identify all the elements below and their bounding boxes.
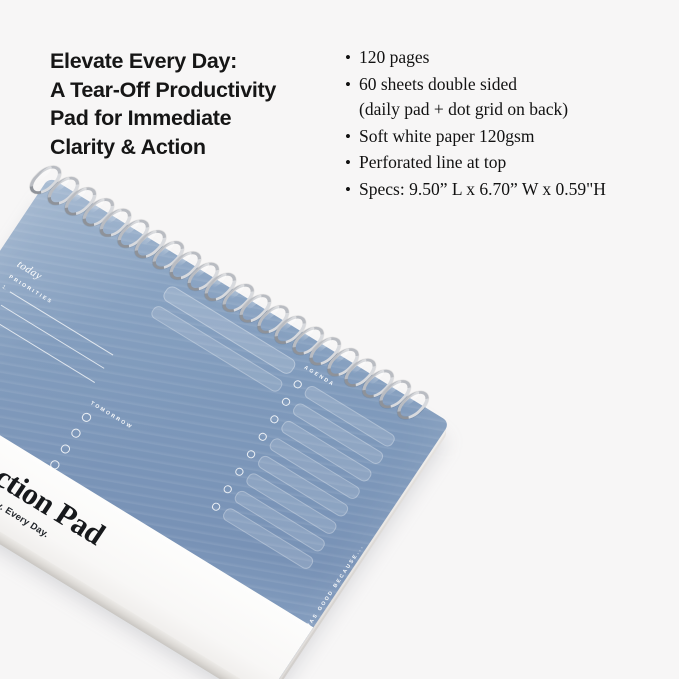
checkbox-icon [80,411,92,423]
spec-list: • 120 pages • 60 sheets double sided (da… [345,45,645,203]
checkbox-icon [70,427,82,439]
spec-text: Perforated line at top [359,150,645,176]
bullet-icon: • [345,150,359,176]
time-dot-icon [222,484,233,494]
bullet-icon: • [345,124,359,150]
page-title: Elevate Every Day: A Tear-Off Productivi… [50,47,340,161]
priority-number: 1. [1,284,8,291]
list-item: • 60 sheets double sided (daily pad + do… [345,72,645,123]
write-line [94,421,95,422]
checkbox-icon [59,443,71,455]
time-dot-icon [211,502,222,512]
time-dot-icon [269,414,280,424]
product-marketing-image: Elevate Every Day: A Tear-Off Productivi… [0,0,679,679]
write-line [83,437,84,438]
bullet-icon: • [345,72,359,98]
write-line [62,469,63,470]
list-item: • Perforated line at top [345,150,645,176]
time-dot-icon [257,432,268,442]
write-line [73,453,74,454]
spec-text: 60 sheets double sided (daily pad + dot … [359,72,645,123]
notepad-top-page: today PRIORITIES 1. 2. 3. TASKS [0,177,450,679]
spec-text: Soft white paper 120gsm [359,124,645,150]
time-dot-icon [234,467,245,477]
time-dot-icon [292,379,303,389]
product-image-notepad: today PRIORITIES 1. 2. 3. TASKS [24,196,584,666]
time-dot-icon [281,397,292,407]
time-dot-icon [246,449,257,459]
bullet-icon: • [345,45,359,71]
spec-text: 120 pages [359,45,645,71]
list-item: • 120 pages [345,45,645,71]
list-item: • Soft white paper 120gsm [345,124,645,150]
